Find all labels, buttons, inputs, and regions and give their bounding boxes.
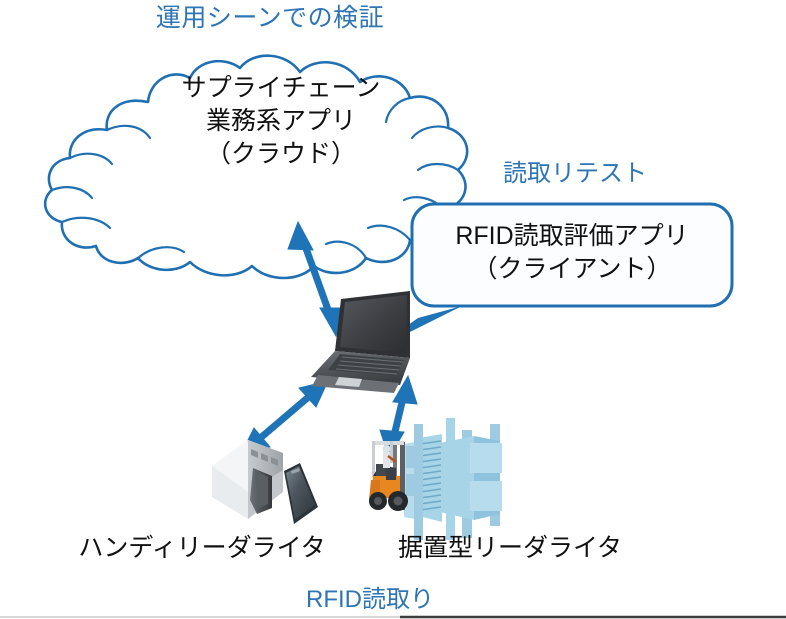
fixed-reader-label: 据置型リーダライタ bbox=[360, 532, 660, 565]
handheld-reader-label: ハンディリーダライタ bbox=[42, 532, 362, 565]
callout-body-label: RFID読取評価アプリ （クライアント） bbox=[412, 220, 732, 286]
diagram-canvas: 運用シーンでの検証 サプライチェーン 業務系アプリ （クラウド） 読取リテスト … bbox=[0, 0, 786, 619]
callout-heading-label: 読取リテスト bbox=[455, 158, 695, 190]
cloud-label: サプライチェーン 業務系アプリ （クラウド） bbox=[96, 72, 466, 171]
page-title: 運用シーンでの検証 bbox=[0, 2, 540, 35]
forklift-icon bbox=[369, 441, 408, 511]
handheld-reader-icon bbox=[212, 440, 318, 524]
footer-label: RFID読取り bbox=[180, 584, 560, 616]
